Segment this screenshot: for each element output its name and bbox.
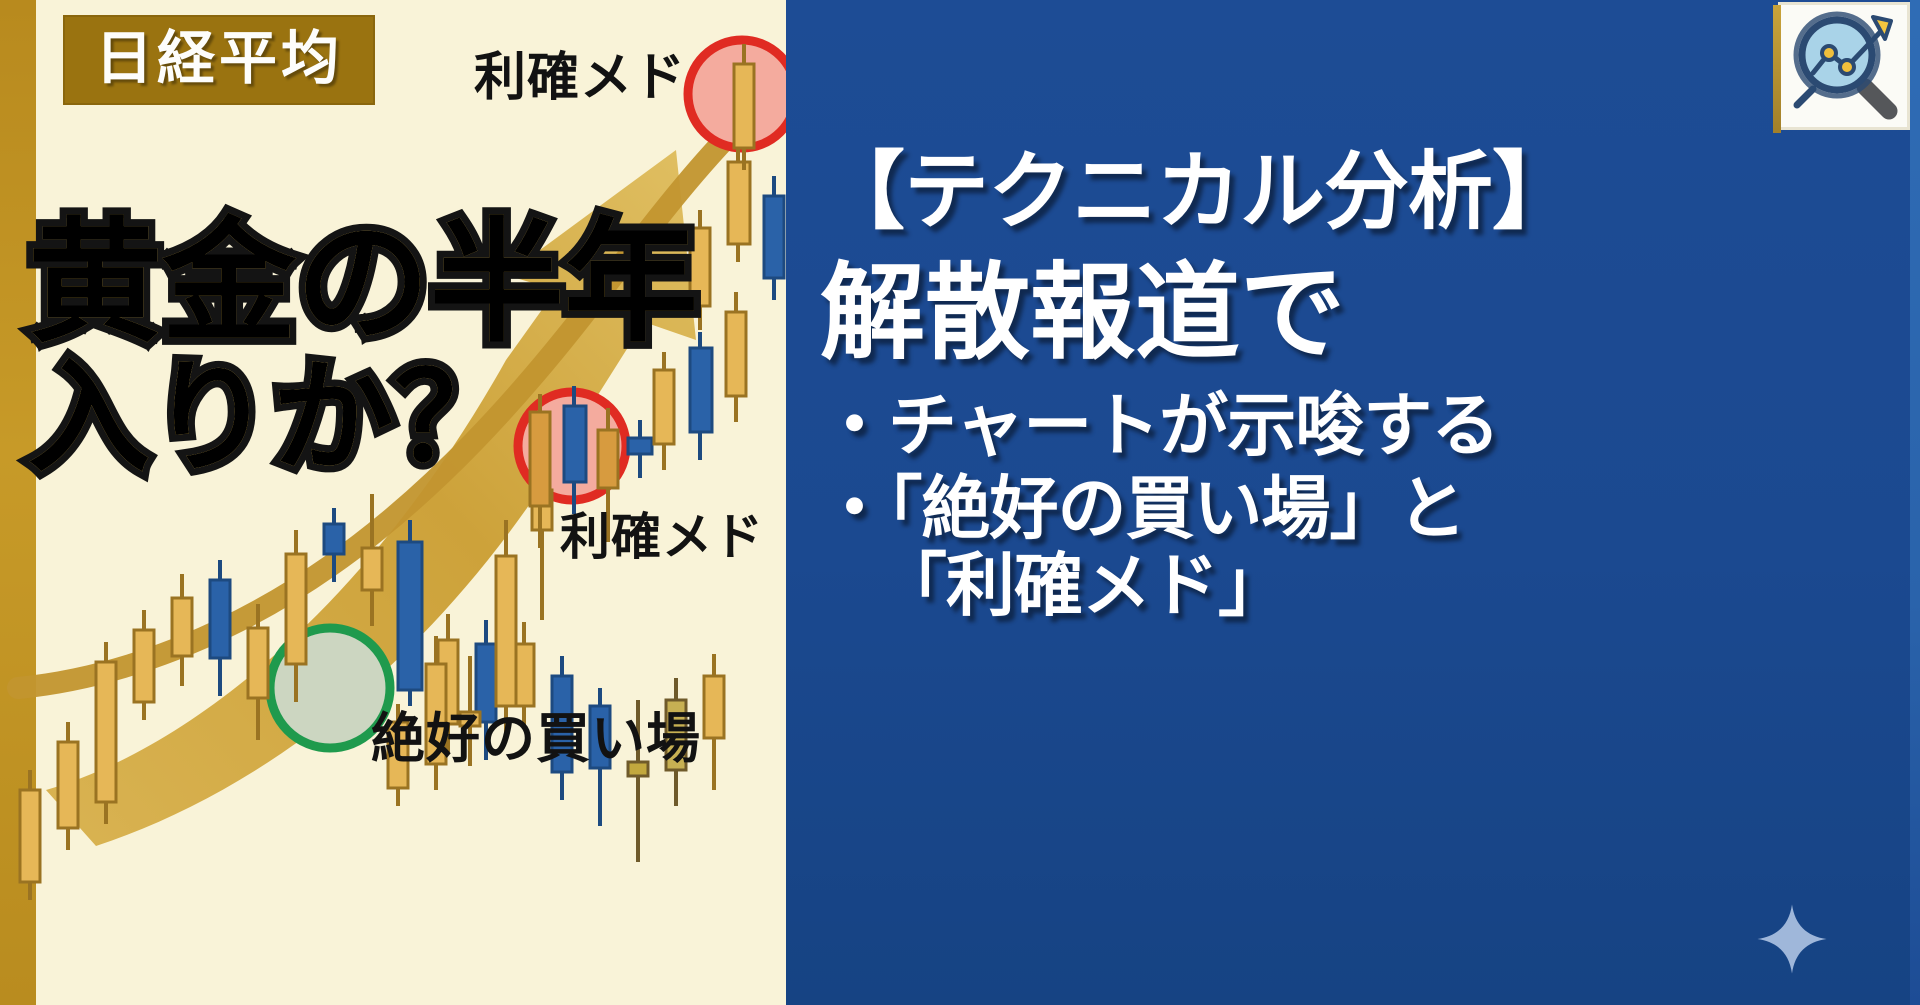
bullet-item-1: ・チャートが示唆する [820, 392, 1910, 461]
moving-average-line [18, 124, 740, 688]
right-edge-stripe [1910, 0, 1920, 1005]
bullet-item-2: ・「絶好の買い場」と [820, 475, 1910, 544]
left-chart-panel: 日経平均 黄金の半年 入りか？ 黄金の半年 入りか？ 利確メド 利確メド 絶好の… [0, 0, 786, 1005]
channel-logo[interactable] [1778, 2, 1910, 130]
annotation-profit-target-top: 利確メド [474, 52, 686, 104]
annotation-profit-target-mid: 利確メド [560, 512, 764, 562]
right-panel-text-block: 【テクニカル分析】 解散報道で ・チャートが示唆する ・「絶好の買い場」と 「利… [820, 150, 1910, 621]
index-name-label: 日経平均 [95, 29, 343, 87]
index-name-badge: 日経平均 [63, 15, 375, 105]
annotation-buy-zone: 絶好の買い場 [371, 712, 701, 766]
right-title-panel: 【テクニカル分析】 解散報道で ・チャートが示唆する ・「絶好の買い場」と 「利… [786, 0, 1920, 1005]
logo-gold-accent [1773, 5, 1781, 133]
magnifying-glass-chart-arrow-icon [1781, 5, 1907, 127]
thumbnail-stage: 日経平均 黄金の半年 入りか？ 黄金の半年 入りか？ 利確メド 利確メド 絶好の… [0, 0, 1920, 1005]
candlestick-chart [0, 0, 786, 1005]
sparkle-icon [1756, 903, 1828, 975]
bullet-item-3: 「利確メド」 [820, 552, 1910, 621]
heading-main-label: 解散報道で [820, 261, 1910, 366]
heading-bracket-label: 【テクニカル分析】 [820, 150, 1910, 235]
